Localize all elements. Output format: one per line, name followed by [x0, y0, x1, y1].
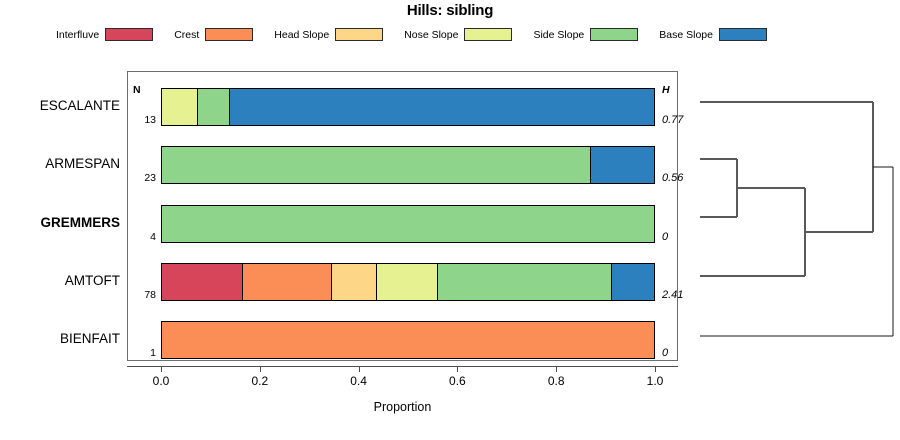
page-title: Hills: sibling: [0, 2, 900, 19]
legend: InterfluveCrestHead SlopeNose SlopeSide …: [56, 26, 846, 43]
legend-item-side-slope: Side Slope: [533, 28, 638, 41]
legend-swatch: [464, 28, 512, 41]
x-tick-label: 0.2: [251, 374, 268, 388]
x-tick: [457, 366, 458, 372]
bar-segment-crest[interactable]: [162, 322, 655, 358]
dendrogram: [686, 71, 900, 361]
bar-segment-side-slope[interactable]: [198, 89, 230, 125]
row-h-value: 0.77: [662, 114, 683, 126]
legend-swatch: [335, 28, 383, 41]
bar-segment-nose-slope[interactable]: [162, 89, 198, 125]
x-tick-label: 0.0: [153, 374, 170, 388]
x-tick-label: 0.4: [350, 374, 367, 388]
x-tick-label: 0.8: [548, 374, 565, 388]
column-header-n: N: [133, 84, 141, 96]
chart-root: Hills: sibling InterfluveCrestHead Slope…: [0, 0, 900, 440]
legend-item-head-slope: Head Slope: [274, 28, 383, 41]
legend-label: Base Slope: [659, 29, 713, 41]
row-n-value: 23: [130, 172, 156, 184]
legend-label: Interfluve: [56, 29, 99, 41]
bar-segment-base-slope[interactable]: [591, 147, 655, 183]
row-label-gremmers: GREMMERS: [0, 215, 120, 230]
row-n-value: 1: [130, 347, 156, 359]
stacked-bar-amtoft[interactable]: [161, 263, 655, 301]
row-n-value: 78: [130, 289, 156, 301]
row-n-value: 4: [130, 231, 156, 243]
column-header-h: H: [662, 84, 670, 96]
stacked-bar-escalante[interactable]: [161, 88, 655, 126]
x-tick: [556, 366, 557, 372]
legend-swatch: [590, 28, 638, 41]
row-h-value: 2.41: [662, 289, 683, 301]
stacked-bar-armespan[interactable]: [161, 146, 655, 184]
legend-label: Side Slope: [533, 29, 584, 41]
legend-label: Head Slope: [274, 29, 329, 41]
legend-swatch: [719, 28, 767, 41]
bar-segment-interfluve[interactable]: [162, 264, 243, 300]
legend-item-base-slope: Base Slope: [659, 28, 767, 41]
legend-label: Crest: [174, 29, 199, 41]
bar-segment-head-slope[interactable]: [332, 264, 377, 300]
legend-swatch: [105, 28, 153, 41]
x-axis-title: Proportion: [127, 400, 678, 414]
x-axis-line: [127, 366, 678, 367]
bar-segment-nose-slope[interactable]: [377, 264, 438, 300]
bar-segment-side-slope[interactable]: [162, 206, 655, 242]
bar-segment-side-slope[interactable]: [438, 264, 612, 300]
row-label-bienfait: BIENFAIT: [0, 331, 120, 346]
bar-segment-crest[interactable]: [243, 264, 332, 300]
row-h-value: 0.56: [662, 172, 683, 184]
legend-item-interfluve: Interfluve: [56, 28, 153, 41]
bar-segment-base-slope[interactable]: [612, 264, 655, 300]
x-tick-label: 1.0: [647, 374, 664, 388]
stacked-bar-gremmers[interactable]: [161, 205, 655, 243]
x-tick: [655, 366, 656, 372]
row-label-escalante: ESCALANTE: [0, 98, 120, 113]
row-n-value: 13: [130, 114, 156, 126]
legend-swatch: [205, 28, 253, 41]
bar-segment-side-slope[interactable]: [162, 147, 591, 183]
row-label-amtoft: AMTOFT: [0, 273, 120, 288]
row-label-armespan: ARMESPAN: [0, 156, 120, 171]
x-tick: [260, 366, 261, 372]
x-tick-label: 0.6: [449, 374, 466, 388]
legend-item-crest: Crest: [174, 28, 253, 41]
legend-item-nose-slope: Nose Slope: [404, 28, 512, 41]
stacked-bar-bienfait[interactable]: [161, 321, 655, 359]
x-tick: [161, 366, 162, 372]
dendrogram-svg: [686, 71, 900, 361]
x-tick: [359, 366, 360, 372]
row-h-value: 0: [662, 231, 668, 243]
legend-label: Nose Slope: [404, 29, 458, 41]
bar-segment-base-slope[interactable]: [230, 89, 655, 125]
row-h-value: 0: [662, 347, 668, 359]
